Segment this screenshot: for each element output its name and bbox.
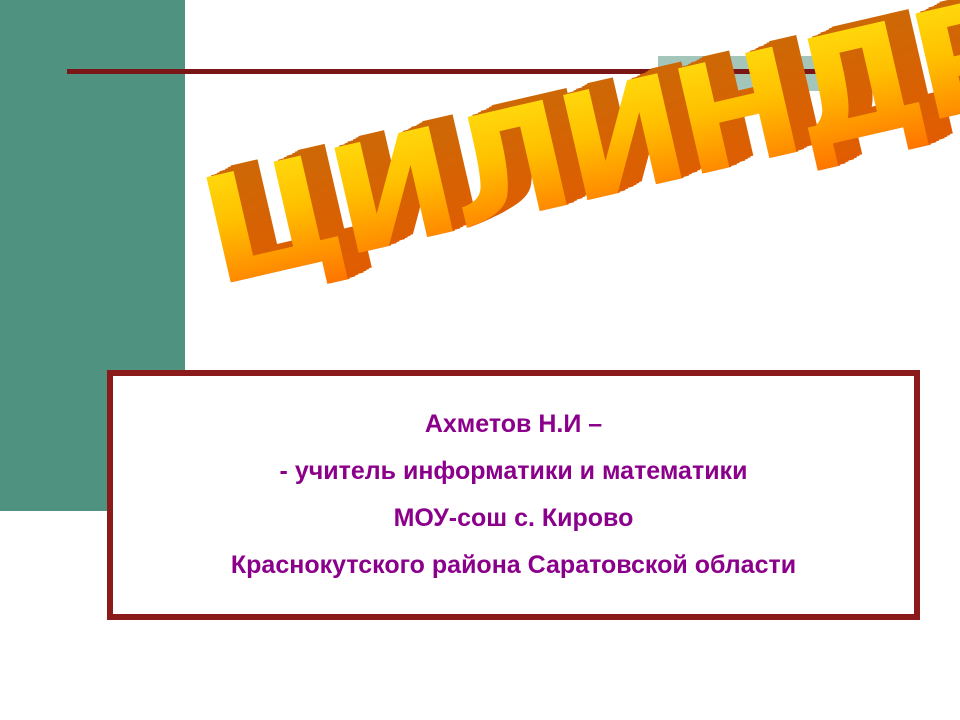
wordart-extrude-layer-3: ЦИЛИНДР — [205, 0, 960, 311]
horizontal-divider-rule — [67, 69, 916, 74]
wordart-title-face: ЦИЛИНДР — [187, 0, 960, 320]
author-line-1: Ахметов Н.И – — [425, 412, 602, 437]
wordart-extrude-layer-4: ЦИЛИНДР — [203, 0, 960, 313]
wordart-extrude-layer-8: ЦИЛИНДР — [191, 0, 960, 317]
wordart-extrude-layer-5: ЦИЛИНДР — [200, 0, 960, 314]
wordart-extrude-layer-2: ЦИЛИНДР — [208, 0, 960, 310]
author-line-2: - учитель информатики и математики — [280, 459, 748, 484]
wordart-extrude-layer-6: ЦИЛИНДР — [197, 0, 960, 315]
author-line-3: МОУ-сош с. Кирово — [394, 506, 634, 531]
wordart-extrude-layer-1: ЦИЛИНДР — [211, 0, 960, 308]
wordart-extrude-layer-9: ЦИЛИНДР — [189, 0, 960, 319]
author-info-textbox: Ахметов Н.И – - учитель информатики и ма… — [107, 370, 920, 620]
author-line-4: Краснокутского района Саратовской област… — [231, 553, 796, 578]
presentation-slide: ЦИЛИНДР ЦИЛИНДР ЦИЛИНДР ЦИЛИНДР ЦИЛИНДР … — [0, 0, 960, 720]
wordart-extrude-layer-7: ЦИЛИНДР — [194, 0, 960, 317]
